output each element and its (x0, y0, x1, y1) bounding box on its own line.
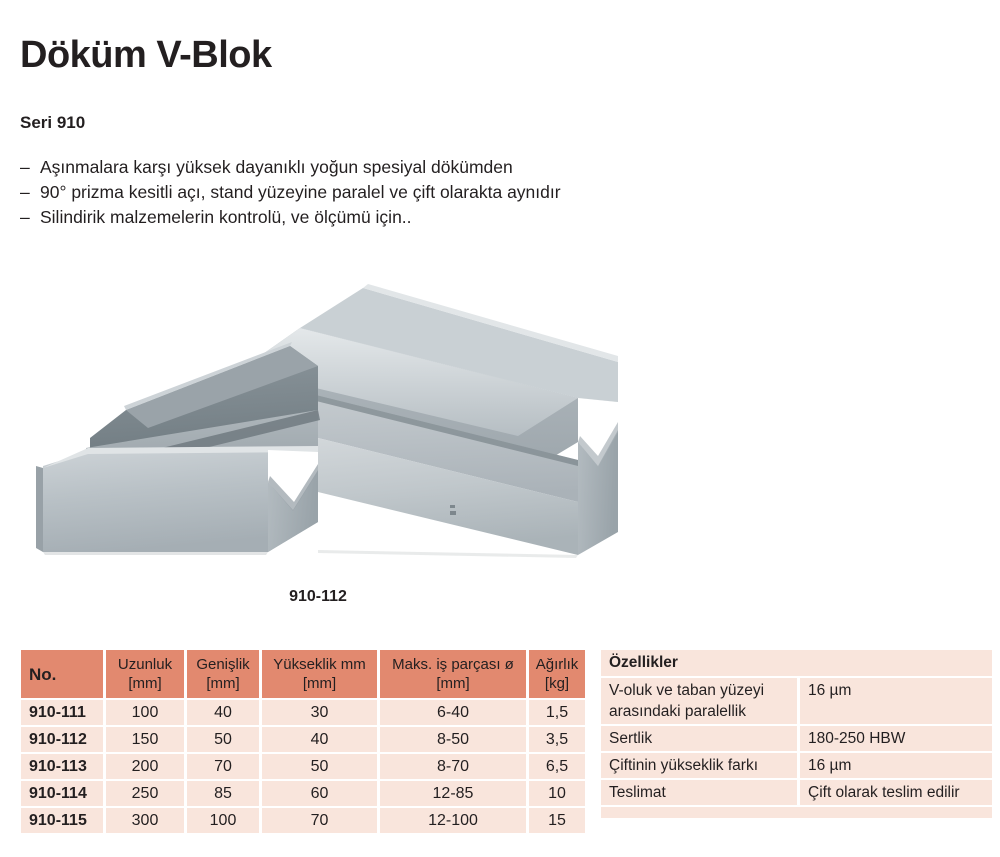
column-header-yukseklik-line1: Yükseklik mm (268, 655, 371, 674)
cell-genislik: 100 (187, 808, 259, 833)
cell-genislik: 70 (187, 754, 259, 779)
feature-list: – Aşınmalara karşı yüksek dayanıklı yoğu… (20, 155, 720, 230)
cell-agirlik: 6,5 (529, 754, 585, 779)
cell-agirlik: 10 (529, 781, 585, 806)
v-block-illustration (18, 270, 618, 570)
dash-icon: – (20, 180, 40, 205)
cell-uzunluk: 250 (106, 781, 184, 806)
cell-no: 910-112 (21, 727, 103, 752)
feature-text: Silindirik malzemelerin kontrolü, ve ölç… (40, 205, 412, 230)
table-row: Sertlik 180-250 HBW (601, 726, 992, 751)
table-row: 910-113 200 70 50 8-70 6,5 (21, 754, 585, 779)
page-title: Döküm V-Blok (20, 36, 272, 76)
properties-title-row: Özellikler (601, 650, 992, 676)
column-header-uzunluk: Uzunluk [mm] (106, 650, 184, 698)
table-row: 910-111 100 40 30 6-40 1,5 (21, 700, 585, 725)
cell-genislik: 50 (187, 727, 259, 752)
table-header-row: No. Uzunluk [mm] Genişlik [mm] Yükseklik… (21, 650, 585, 698)
cell-yukseklik: 50 (262, 754, 377, 779)
table-row: 910-112 150 50 40 8-50 3,5 (21, 727, 585, 752)
property-value: 16 µm (800, 678, 992, 724)
cell-agirlik: 15 (529, 808, 585, 833)
column-header-agirlik-line2: [kg] (535, 674, 579, 693)
list-item: – Aşınmalara karşı yüksek dayanıklı yoğu… (20, 155, 720, 180)
property-label: Teslimat (601, 780, 797, 805)
cell-no: 910-111 (21, 700, 103, 725)
column-header-genislik: Genişlik [mm] (187, 650, 259, 698)
cell-no: 910-115 (21, 808, 103, 833)
photo-caption: 910-112 (18, 588, 618, 606)
cell-maks: 12-85 (380, 781, 526, 806)
list-item: – Silindirik malzemelerin kontrolü, ve ö… (20, 205, 720, 230)
cell-uzunluk: 200 (106, 754, 184, 779)
cell-yukseklik: 40 (262, 727, 377, 752)
cell-maks: 12-100 (380, 808, 526, 833)
dash-icon: – (20, 155, 40, 180)
cell-maks: 8-70 (380, 754, 526, 779)
cell-yukseklik: 30 (262, 700, 377, 725)
column-header-no-line1: No. (29, 665, 97, 684)
column-header-maks-is-parcasi: Maks. iş parçası ø [mm] (380, 650, 526, 698)
cell-maks: 8-50 (380, 727, 526, 752)
table-row: Çiftinin yükseklik farkı 16 µm (601, 753, 992, 778)
cell-uzunluk: 150 (106, 727, 184, 752)
series-label: Seri 910 (20, 113, 85, 133)
column-header-uzunluk-line2: [mm] (112, 674, 178, 693)
column-header-maks-line1: Maks. iş parçası ø (386, 655, 520, 674)
cell-genislik: 85 (187, 781, 259, 806)
cell-yukseklik: 60 (262, 781, 377, 806)
table-row: Teslimat Çift olarak teslim edilir (601, 780, 992, 805)
column-header-maks-line2: [mm] (386, 674, 520, 693)
cell-uzunluk: 100 (106, 700, 184, 725)
cell-agirlik: 3,5 (529, 727, 585, 752)
dash-icon: – (20, 205, 40, 230)
properties-table: Özellikler V-oluk ve taban yüzeyi arasın… (598, 648, 995, 820)
property-value: 16 µm (800, 753, 992, 778)
column-header-agirlik-line1: Ağırlık (535, 655, 579, 674)
column-header-genislik-line1: Genişlik (193, 655, 253, 674)
cell-no: 910-113 (21, 754, 103, 779)
property-value: Çift olarak teslim edilir (800, 780, 992, 805)
product-spec-table: No. Uzunluk [mm] Genişlik [mm] Yükseklik… (18, 648, 588, 835)
table-row: 910-115 300 100 70 12-100 15 (21, 808, 585, 833)
feature-text: 90° prizma kesitli açı, stand yüzeyine p… (40, 180, 561, 205)
column-header-no: No. (21, 650, 103, 698)
column-header-yukseklik: Yükseklik mm [mm] (262, 650, 377, 698)
property-label: V-oluk ve taban yüzeyi arasındaki parale… (601, 678, 797, 724)
property-label: Çiftinin yükseklik farkı (601, 753, 797, 778)
product-photo (18, 270, 618, 570)
table-row: V-oluk ve taban yüzeyi arasındaki parale… (601, 678, 992, 724)
properties-footer-row (601, 807, 992, 818)
properties-title: Özellikler (601, 650, 992, 676)
table-row: 910-114 250 85 60 12-85 10 (21, 781, 585, 806)
cell-genislik: 40 (187, 700, 259, 725)
column-header-yukseklik-line2: [mm] (268, 674, 371, 693)
list-item: – 90° prizma kesitli açı, stand yüzeyine… (20, 180, 720, 205)
property-value: 180-250 HBW (800, 726, 992, 751)
cell-uzunluk: 300 (106, 808, 184, 833)
column-header-uzunluk-line1: Uzunluk (112, 655, 178, 674)
column-header-agirlik: Ağırlık [kg] (529, 650, 585, 698)
column-header-genislik-line2: [mm] (193, 674, 253, 693)
cell-no: 910-114 (21, 781, 103, 806)
property-label: Sertlik (601, 726, 797, 751)
feature-text: Aşınmalara karşı yüksek dayanıklı yoğun … (40, 155, 513, 180)
properties-footer-strip (601, 807, 992, 818)
cell-agirlik: 1,5 (529, 700, 585, 725)
cell-yukseklik: 70 (262, 808, 377, 833)
cell-maks: 6-40 (380, 700, 526, 725)
